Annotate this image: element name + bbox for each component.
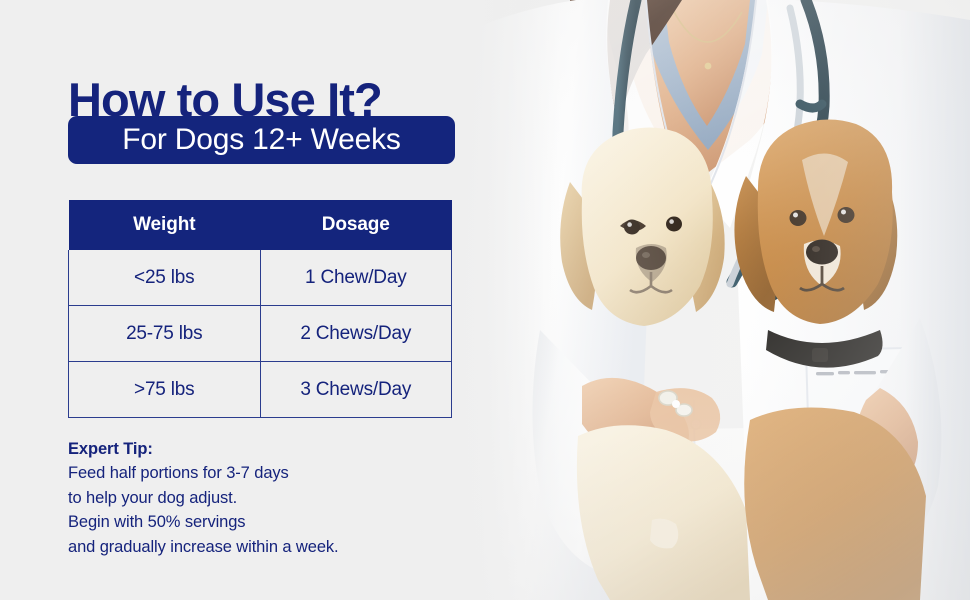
expert-tip-line-2: to help your dog adjust. <box>68 486 468 510</box>
dosage-table-body: <25 lbs 1 Chew/Day 25-75 lbs 2 Chews/Day… <box>69 250 452 418</box>
infographic-page: How to Use It? For Dogs 12+ Weeks Weight… <box>0 0 970 600</box>
photo-vignette <box>450 0 970 600</box>
column-header-dosage: Dosage <box>260 200 452 250</box>
cell-weight: <25 lbs <box>69 250 261 306</box>
vet-with-dogs-photo <box>450 0 970 600</box>
cell-weight: >75 lbs <box>69 362 261 418</box>
content-panel: How to Use It? For Dogs 12+ Weeks Weight… <box>0 0 480 600</box>
expert-tip-line-4: and gradually increase within a week. <box>68 535 468 559</box>
expert-tip-block: Expert Tip: Feed half portions for 3-7 d… <box>68 437 468 559</box>
table-row: >75 lbs 3 Chews/Day <box>69 362 452 418</box>
cell-weight: 25-75 lbs <box>69 306 261 362</box>
dosage-table: Weight Dosage <25 lbs 1 Chew/Day 25-75 l… <box>68 200 452 418</box>
age-badge-label: For Dogs 12+ Weeks <box>122 125 400 155</box>
expert-tip-heading: Expert Tip: <box>68 437 468 461</box>
cell-dosage: 3 Chews/Day <box>260 362 452 418</box>
dosage-table-head: Weight Dosage <box>69 200 452 250</box>
expert-tip-line-3: Begin with 50% servings <box>68 510 468 534</box>
table-row: 25-75 lbs 2 Chews/Day <box>69 306 452 362</box>
cell-dosage: 2 Chews/Day <box>260 306 452 362</box>
expert-tip-line-1: Feed half portions for 3-7 days <box>68 461 468 485</box>
vet-photo-illustration <box>450 0 970 600</box>
cell-dosage: 1 Chew/Day <box>260 250 452 306</box>
age-badge: For Dogs 12+ Weeks <box>68 116 455 164</box>
column-header-weight: Weight <box>69 200 261 250</box>
table-row: <25 lbs 1 Chew/Day <box>69 250 452 306</box>
table-header-row: Weight Dosage <box>69 200 452 250</box>
